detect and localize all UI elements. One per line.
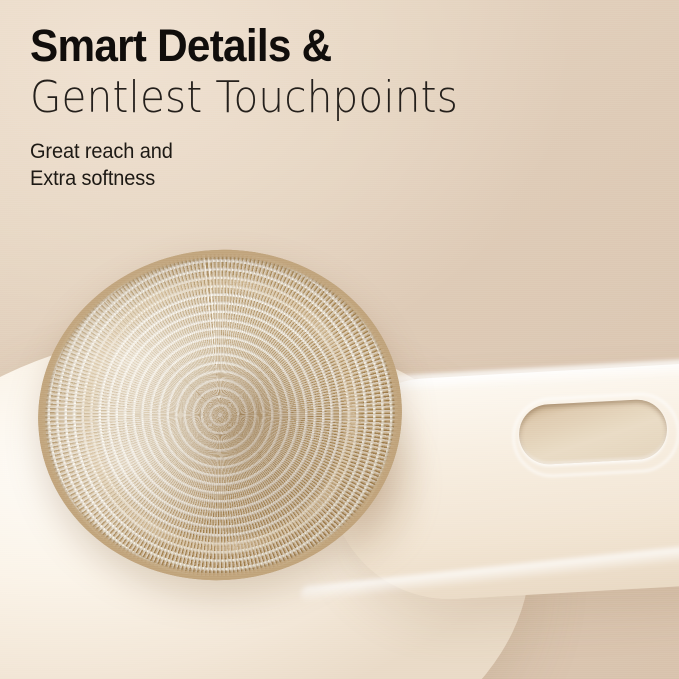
headline-light: Gentlest Touchpoints [30,73,627,122]
bristle-texture [26,236,414,593]
bristle-radial-texture-fine [26,236,414,593]
bristle-field [26,236,414,593]
headline-bold: Smart Details & [30,24,640,69]
subheading: Great reach and Extra softness [30,138,647,193]
hanging-hole [518,398,669,466]
product-hero-image: Smart Details & Gentlest Touchpoints Gre… [0,0,679,679]
marketing-copy: Smart Details & Gentlest Touchpoints Gre… [0,0,679,192]
subheading-line-1: Great reach and [30,138,647,165]
subheading-line-2: Extra softness [30,165,647,192]
brush-head [22,232,419,598]
